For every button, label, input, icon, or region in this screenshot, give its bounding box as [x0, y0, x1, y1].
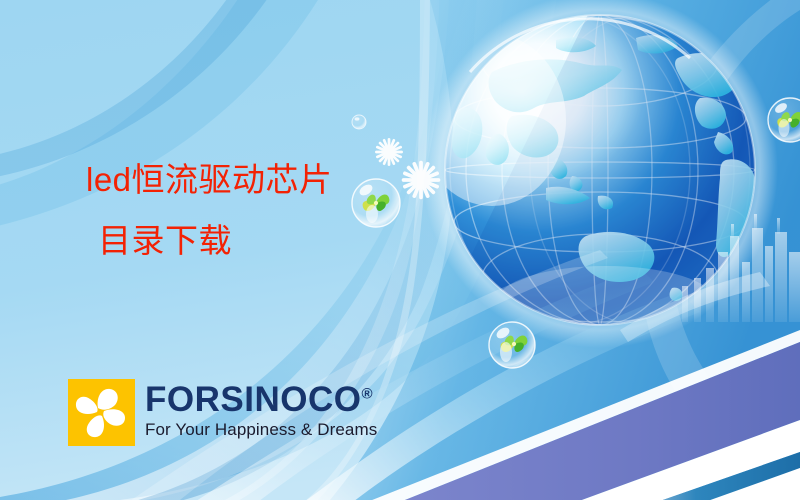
registered-trademark-icon: ® — [361, 385, 372, 402]
promo-banner: led恒流驱动芯片 目录下载 FORSINOCO® For Your Happi… — [0, 0, 800, 500]
bubble-with-pinwheel-icon — [489, 322, 535, 368]
starburst-icon — [404, 163, 439, 198]
forsinoco-pinwheel-mark-icon — [68, 379, 135, 446]
logo-tagline: For Your Happiness & Dreams — [145, 421, 377, 438]
bubble-with-pinwheel-icon — [352, 179, 400, 227]
logo-wordmark: FORSINOCO® — [145, 382, 377, 417]
logo-wordmark-text: FORSINOCO — [145, 380, 361, 419]
bubble-icon — [352, 115, 366, 129]
brand-logo[interactable]: FORSINOCO® For Your Happiness & Dreams — [68, 379, 377, 446]
bubble-with-pinwheel-icon — [768, 98, 800, 142]
starburst-icon — [376, 139, 401, 164]
